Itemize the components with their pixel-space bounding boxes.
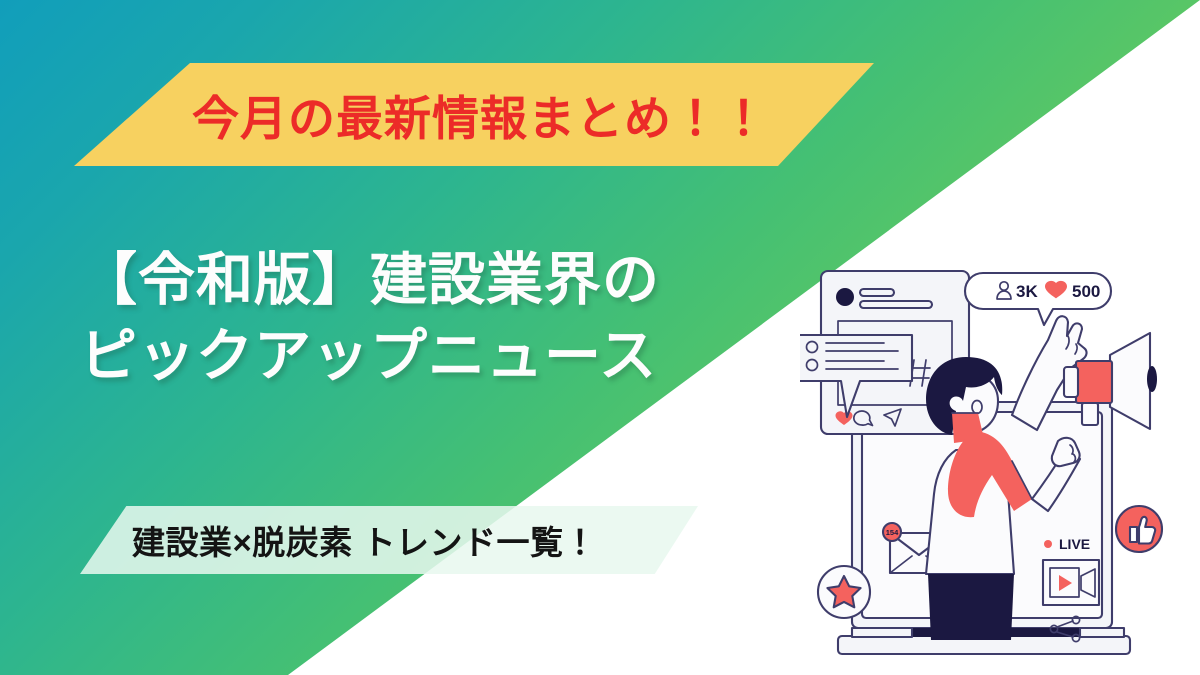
page-title-line-2: ピックアップニュース [80, 319, 780, 395]
likes-value: 500 [1072, 282, 1100, 301]
subtitle-band: 建設業×脱炭素 トレンド一覧！ [80, 506, 698, 574]
poster-canvas: 今月の最新情報まとめ！！ 【令和版】建設業界の ピックアップニュース 建設業×脱… [0, 0, 1200, 675]
page-title-line-1: 【令和版】建設業界の [80, 243, 780, 319]
hero-illustration: .ln { fill:none; stroke:#3f3d6b; stroke-… [800, 255, 1200, 675]
stats-badge: 3K 500 [965, 273, 1111, 325]
live-label: LIVE [1059, 536, 1090, 552]
mail-badge-count: 154 [886, 528, 899, 537]
followers-value: 3K [1016, 282, 1038, 301]
star-badge [818, 566, 870, 618]
thumbs-up-badge [1116, 506, 1162, 552]
headline-banner-text: 今月の最新情報まとめ！！ [192, 80, 768, 149]
avatar [836, 288, 854, 306]
subtitle-text: 建設業×脱炭素 トレンド一覧！ [132, 516, 597, 564]
headline-banner: 今月の最新情報まとめ！！ [74, 63, 874, 166]
video-camera-icon [1043, 560, 1099, 605]
page-title: 【令和版】建設業界の ピックアップニュース [80, 243, 780, 395]
